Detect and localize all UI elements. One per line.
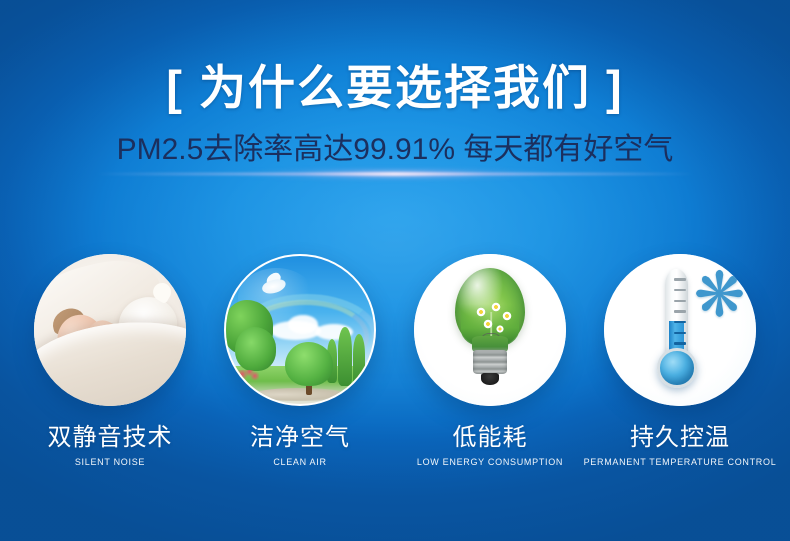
feature-label-cn: 洁净空气 [250,424,350,452]
daisy-flower [501,310,513,322]
rocks [253,388,348,401]
daisy-flower [475,306,487,318]
scale-tick [674,310,686,313]
nature-rainbow-photo-icon [224,254,376,406]
feature-item-clean-air[interactable]: 洁净空气 CLEAN AIR [205,254,395,468]
page-title: [ 为什么要选择我们 ] [0,62,790,114]
scale-tick [674,300,686,303]
feature-label-en: CLEAN AIR [273,456,326,468]
feature-item-temperature-control[interactable]: ❋ 持久控温 PERMANENT TEMPERATURE CONTROL [585,254,775,468]
bulb-contact-tip [481,373,499,385]
thermometer-bulb [657,348,697,388]
green-lightbulb-icon [414,254,566,406]
daisy-flower [490,301,502,313]
feature-label-en: LOW ENERGY CONSUMPTION [417,456,563,468]
promo-banner: [ 为什么要选择我们 ] PM2.5去除率高达99.91% 每天都有好空气 双静… [0,0,790,541]
cypress-tree-1 [338,327,351,386]
scale-tick [674,332,686,335]
feature-label-en: PERMANENT TEMPERATURE CONTROL [584,456,777,468]
lens-flare-streak [95,173,695,176]
feature-label-cn: 低能耗 [453,424,528,452]
tree-center [285,342,332,386]
feature-label-cn: 双静音技术 [48,424,173,452]
feature-row: 双静音技术 SILENT NOISE [0,254,790,494]
feature-item-low-energy[interactable]: 低能耗 LOW ENERGY CONSUMPTION [395,254,585,468]
red-flowers [238,370,259,391]
page-subtitle: PM2.5去除率高达99.91% 每天都有好空气 [0,131,790,169]
tree-left-lower [235,327,276,371]
feature-label-cn: 持久控温 [630,424,730,452]
scale-tick [674,342,686,345]
scale-tick [674,321,686,324]
bulb-screw-base [473,350,506,374]
daisy-flower [495,324,505,334]
feature-label-en: SILENT NOISE [75,456,145,468]
scale-tick [674,278,686,281]
cypress-tree-2 [353,334,365,384]
feature-item-silent-noise[interactable]: 双静音技术 SILENT NOISE [15,254,205,468]
sleeping-baby-photo-icon [34,254,186,406]
thermometer-snowflake-icon: ❋ [604,254,756,406]
snowflake-icon: ❋ [689,266,750,327]
